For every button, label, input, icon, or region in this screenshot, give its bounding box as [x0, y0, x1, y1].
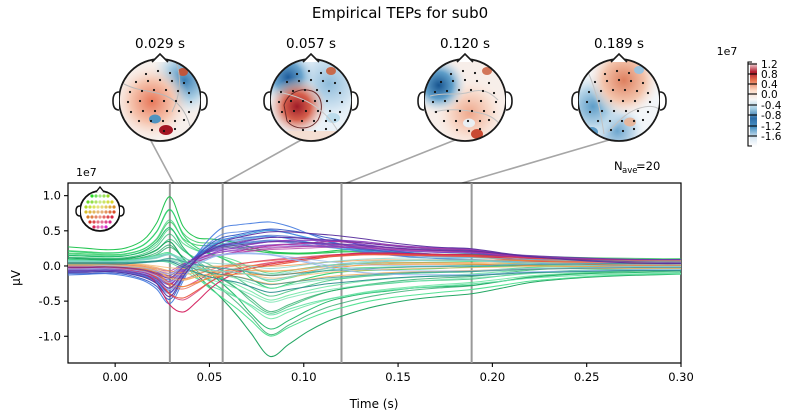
inset-sensor-dot	[104, 205, 107, 208]
inset-ear-left-icon	[76, 206, 80, 216]
inset-sensor-dot	[94, 200, 97, 203]
inset-sensor-dot	[90, 215, 93, 218]
y-tick-label-0: 1.0	[43, 189, 61, 203]
topomap-0.029s[interactable]	[113, 54, 207, 141]
inset-sensor-dot	[104, 225, 107, 228]
inset-sensor-dot	[92, 210, 95, 213]
nose-icon	[611, 54, 627, 62]
ear-right-icon	[201, 92, 207, 110]
inset-sensor-dot	[106, 200, 109, 203]
inset-sensor-dot	[92, 225, 95, 228]
x-axis-ticks: 0.000.050.100.150.200.250.30	[102, 363, 693, 384]
topomap-0.120s[interactable]	[418, 54, 512, 141]
inset-sensor-dot	[94, 215, 97, 218]
inset-sensor-dot	[100, 205, 103, 208]
inset-sensor-dot	[98, 194, 101, 197]
y-tick-label-1: 0.5	[43, 224, 61, 238]
ear-left-icon	[572, 92, 578, 110]
topomap-time-label-4: 0.189 s	[594, 36, 644, 52]
inset-sensor-dot	[106, 194, 109, 197]
inset-sensor-dot	[96, 205, 99, 208]
colorbar-offset-label: 1e7	[717, 45, 738, 58]
inset-sensor-dot	[90, 200, 93, 203]
colorbar-tick-7: -1.6	[761, 131, 782, 143]
inset-sensor-dot	[104, 220, 107, 223]
inset-sensor-dot	[100, 210, 103, 213]
y-tick-label-2: 0.0	[43, 259, 61, 273]
ear-right-icon	[506, 92, 512, 110]
inset-sensor-dot	[106, 215, 109, 218]
ear-right-icon	[660, 92, 666, 110]
inset-sensor-dot	[98, 215, 101, 218]
inset-sensor-dot	[108, 205, 111, 208]
inset-sensor-dot	[94, 194, 97, 197]
inset-sensor-dot	[100, 225, 103, 228]
topomap-time-label-3: 0.120 s	[440, 36, 490, 52]
inset-sensor-dot	[100, 220, 103, 223]
nose-icon	[303, 54, 319, 62]
inset-sensor-dot	[108, 220, 111, 223]
ear-left-icon	[418, 92, 424, 110]
colorbar-gradient	[750, 62, 757, 146]
nose-icon	[152, 54, 168, 62]
ear-right-icon	[352, 92, 358, 110]
inset-sensor-dot	[92, 220, 95, 223]
inset-sensor-dot	[102, 215, 105, 218]
nose-icon	[457, 54, 473, 62]
ear-left-icon	[113, 92, 119, 110]
x-tick-label-0: 0.00	[102, 370, 128, 384]
x-axis-label: Time (s)	[349, 397, 399, 411]
topomap-connectors	[150, 139, 609, 184]
y-tick-label-3: -0.5	[39, 294, 61, 308]
inset-sensor-dot	[84, 210, 87, 213]
figure-title: Empirical TEPs for sub0	[312, 4, 488, 22]
nave-value: =20	[636, 159, 660, 173]
y-axis-ticks: 1.00.50.0-0.5-1.0	[39, 189, 68, 344]
inset-sensor-dot	[102, 200, 105, 203]
inset-sensor-dot	[92, 205, 95, 208]
x-tick-label-2: 0.10	[291, 370, 317, 384]
x-tick-label-6: 0.30	[668, 370, 694, 384]
inset-sensor-dot	[88, 210, 91, 213]
y-axis-label: µV	[9, 269, 23, 286]
colorbar: 1e7 1.2 0.8 0.4 0.0 -0.4 -0.8 -1.2 -1.6	[717, 45, 782, 146]
inset-sensor-dot	[110, 200, 113, 203]
teps-figure: Empirical TEPs for sub0 0.029 s 0.057 s …	[0, 0, 800, 420]
inset-sensor-dot	[112, 210, 115, 213]
inset-sensor-dot	[104, 210, 107, 213]
x-tick-label-5: 0.25	[574, 370, 600, 384]
inset-sensor-dot	[108, 210, 111, 213]
inset-sensor-dot	[96, 220, 99, 223]
nave-annotation: N ave =20	[614, 159, 660, 176]
inset-sensor-dot	[90, 194, 93, 197]
topomap-time-label-2: 0.057 s	[286, 36, 336, 52]
inset-sensor-dot	[96, 225, 99, 228]
x-tick-label-3: 0.15	[385, 370, 411, 384]
inset-sensor-dot	[112, 205, 115, 208]
inset-sensor-dot	[86, 200, 89, 203]
y-tick-label-4: -1.0	[39, 329, 61, 343]
inset-sensor-dot	[88, 205, 91, 208]
topomap-0.189s[interactable]	[572, 54, 666, 141]
inset-sensor-dot	[86, 215, 89, 218]
inset-sensor-dot	[88, 220, 91, 223]
inset-sensor-dot	[96, 210, 99, 213]
y-offset-label: 1e7	[76, 166, 97, 179]
inset-ear-right-icon	[120, 206, 124, 216]
x-tick-label-4: 0.20	[480, 370, 506, 384]
topomap-0.057s[interactable]	[264, 54, 358, 143]
inset-sensor-dot	[84, 205, 87, 208]
figure-canvas: Empirical TEPs for sub0 0.029 s 0.057 s …	[0, 0, 800, 420]
inset-sensor-dot	[110, 215, 113, 218]
topomap-time-label-1: 0.029 s	[135, 36, 185, 52]
x-tick-label-1: 0.05	[197, 370, 223, 384]
ear-left-icon	[264, 92, 270, 110]
inset-sensor-dot	[98, 200, 101, 203]
inset-sensor-dot	[102, 194, 105, 197]
